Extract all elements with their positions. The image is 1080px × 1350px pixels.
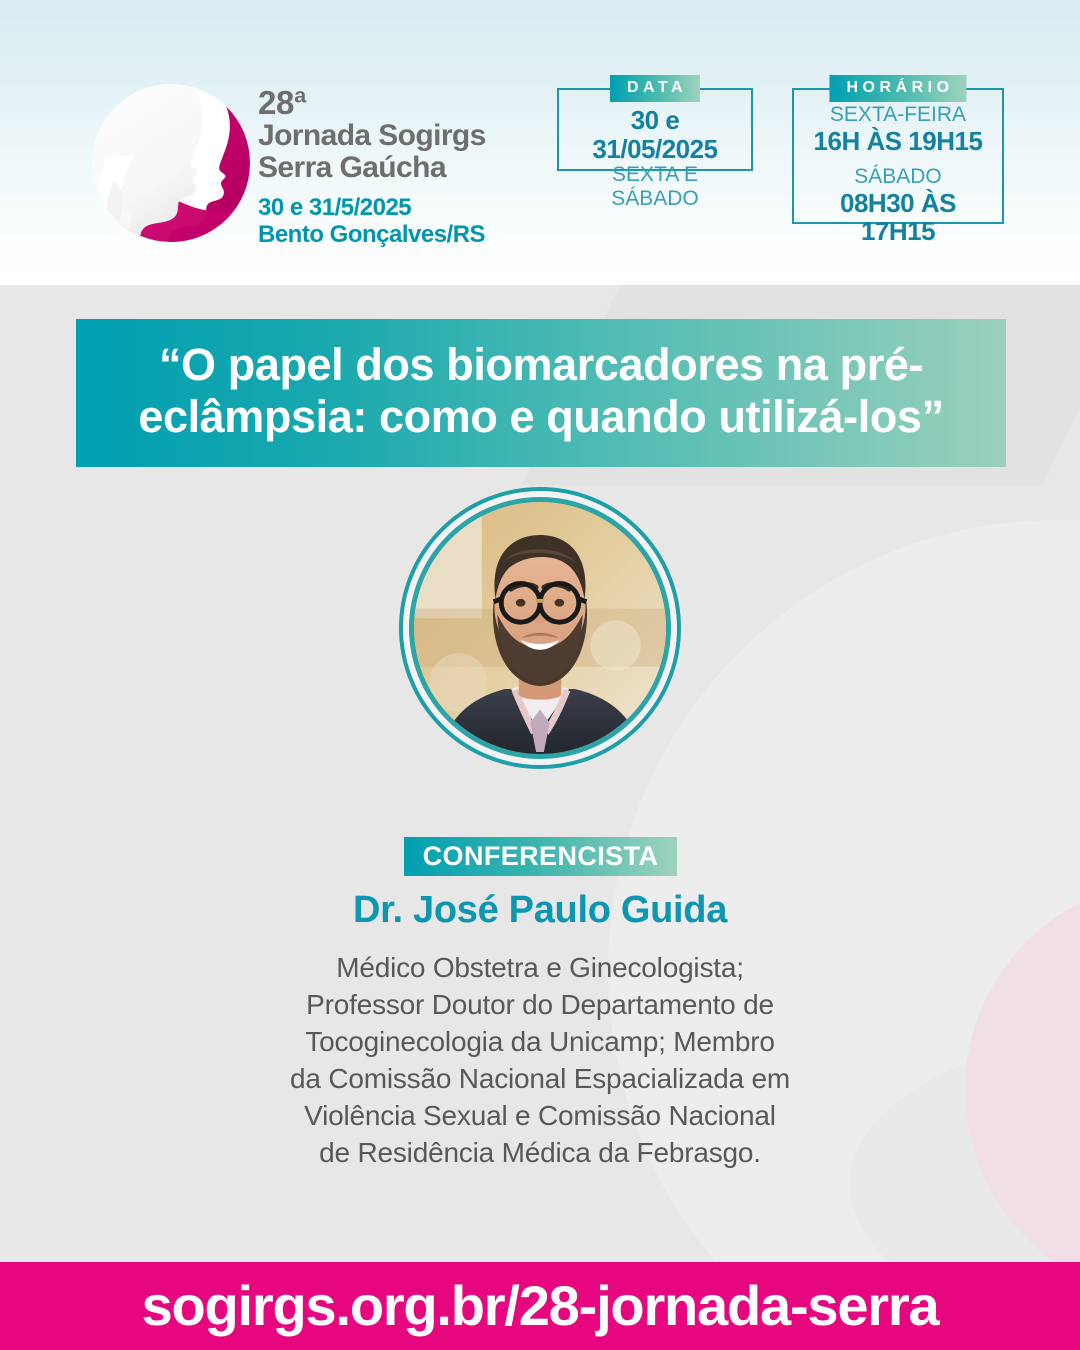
time-info-body: SEXTA-FEIRA 16H ÀS 19H15 SÁBADO 08H30 ÀS… xyxy=(794,90,1002,246)
event-logo xyxy=(92,68,250,258)
speaker-bio-line: da Comissão Nacional Espacializada em xyxy=(0,1061,1080,1098)
speaker-bio-line: Tocoginecologia da Unicamp; Membro xyxy=(0,1024,1080,1061)
lecture-title-banner: “O papel dos biomarcadores na pré- eclâm… xyxy=(76,319,1006,467)
time-hours-friday: 16H ÀS 19H15 xyxy=(804,127,992,156)
time-day-saturday: SÁBADO xyxy=(804,165,992,189)
lecture-title-line1: “O papel dos biomarcadores na pré- xyxy=(159,339,923,390)
speaker-bio: Médico Obstetra e Ginecologista; Profess… xyxy=(0,950,1080,1172)
speaker-bio-line: de Residência Médica da Febrasgo. xyxy=(0,1135,1080,1172)
time-day-friday: SEXTA-FEIRA xyxy=(804,103,992,127)
speaker-role-badge: CONFERENCISTA xyxy=(404,837,677,876)
poster-root: 28ª Jornada Sogirgs Serra Gaúcha 30 e 31… xyxy=(0,0,1080,1350)
time-group-saturday: SÁBADO 08H30 ÀS 17H15 xyxy=(804,165,992,246)
speaker-photo-frame xyxy=(399,487,681,769)
lecture-title-line2: eclâmpsia: como e quando utilizá-los” xyxy=(138,391,943,442)
event-name-line1: Jornada Sogirgs xyxy=(258,120,486,152)
date-primary: 30 e 31/05/2025 xyxy=(569,106,741,163)
event-name-line2: Serra Gaúcha xyxy=(258,152,486,184)
event-date-line: 30 e 31/5/2025 xyxy=(258,194,486,221)
lecture-title: “O papel dos biomarcadores na pré- eclâm… xyxy=(138,339,943,443)
time-info-box: HORÁRIO SEXTA-FEIRA 16H ÀS 19H15 SÁBADO … xyxy=(792,88,1004,224)
date-chip-label: DATA xyxy=(610,75,700,102)
date-secondary: SEXTA E SÁBADO xyxy=(569,163,741,211)
edition-number: 28ª xyxy=(258,86,486,119)
speaker-name: Dr. José Paulo Guida xyxy=(0,890,1080,932)
time-hours-saturday: 08H30 ÀS 17H15 xyxy=(804,189,992,246)
speaker-bio-line: Violência Sexual e Comissão Nacional xyxy=(0,1098,1080,1135)
two-female-profiles-logo-icon xyxy=(92,68,250,258)
speaker-bio-line: Médico Obstetra e Ginecologista; xyxy=(0,950,1080,987)
footer-url-bar[interactable]: sogirgs.org.br/28-jornada-serra xyxy=(0,1262,1080,1350)
time-chip-label: HORÁRIO xyxy=(829,75,966,102)
date-info-body: 30 e 31/05/2025 SEXTA E SÁBADO xyxy=(559,90,751,211)
event-url[interactable]: sogirgs.org.br/28-jornada-serra xyxy=(142,1278,939,1334)
time-group-friday: SEXTA-FEIRA 16H ÀS 19H15 xyxy=(804,103,992,156)
poster-header: 28ª Jornada Sogirgs Serra Gaúcha 30 e 31… xyxy=(0,0,1080,285)
speaker-bio-line: Professor Doutor do Departamento de xyxy=(0,987,1080,1024)
speaker-role-label: CONFERENCISTA xyxy=(423,843,659,870)
date-info-box: DATA 30 e 31/05/2025 SEXTA E SÁBADO xyxy=(557,88,753,171)
speaker-photo xyxy=(409,497,671,759)
event-location-line: Bento Gonçalves/RS xyxy=(258,221,486,248)
event-logo-text: 28ª Jornada Sogirgs Serra Gaúcha 30 e 31… xyxy=(258,86,486,249)
